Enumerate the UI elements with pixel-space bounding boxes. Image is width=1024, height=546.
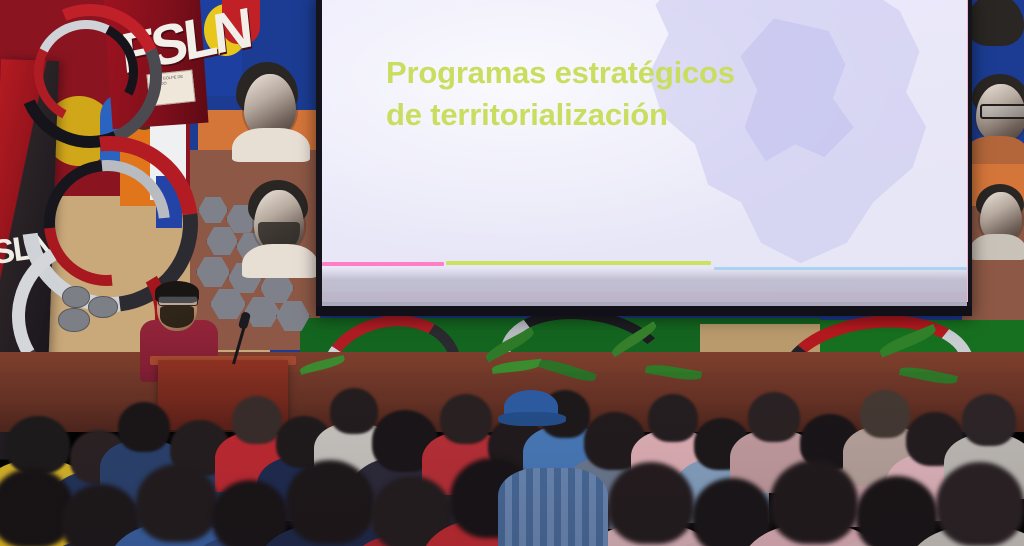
- audience: [0, 372, 1024, 546]
- mural-stone: [62, 286, 90, 308]
- screen-lower-shadow: [322, 268, 967, 310]
- speaker-glasses-icon: [158, 296, 198, 306]
- presentation-photo: FSLN NO AL GOLPE DE ESTADO SLN: [0, 0, 1024, 546]
- portrait-glasses-man-glasses: [980, 104, 1024, 119]
- presentation-slide[interactable]: Programas estratégicos de territorializa…: [322, 0, 967, 292]
- audience-depth-shading: [0, 372, 1024, 546]
- portrait-glasses-man-collar: [966, 136, 1024, 164]
- portrait-young-man-collar: [232, 128, 310, 162]
- slide-title-line-2: de territorialización: [386, 94, 856, 136]
- screen-bottom-frame: [316, 306, 972, 316]
- accent-bar-green: [446, 261, 711, 265]
- portrait-bearded-man-collar: [242, 244, 318, 278]
- slide-title: Programas estratégicos de territorializa…: [386, 52, 856, 135]
- mural-stone: [58, 308, 90, 332]
- accent-bar-pink: [322, 262, 444, 266]
- portrait-partial-hair: [966, 0, 1024, 46]
- portrait-child-collar: [970, 234, 1024, 260]
- slide-title-line-1: Programas estratégicos: [386, 52, 856, 94]
- speaker-beard: [160, 306, 194, 328]
- mural-stone: [88, 296, 118, 318]
